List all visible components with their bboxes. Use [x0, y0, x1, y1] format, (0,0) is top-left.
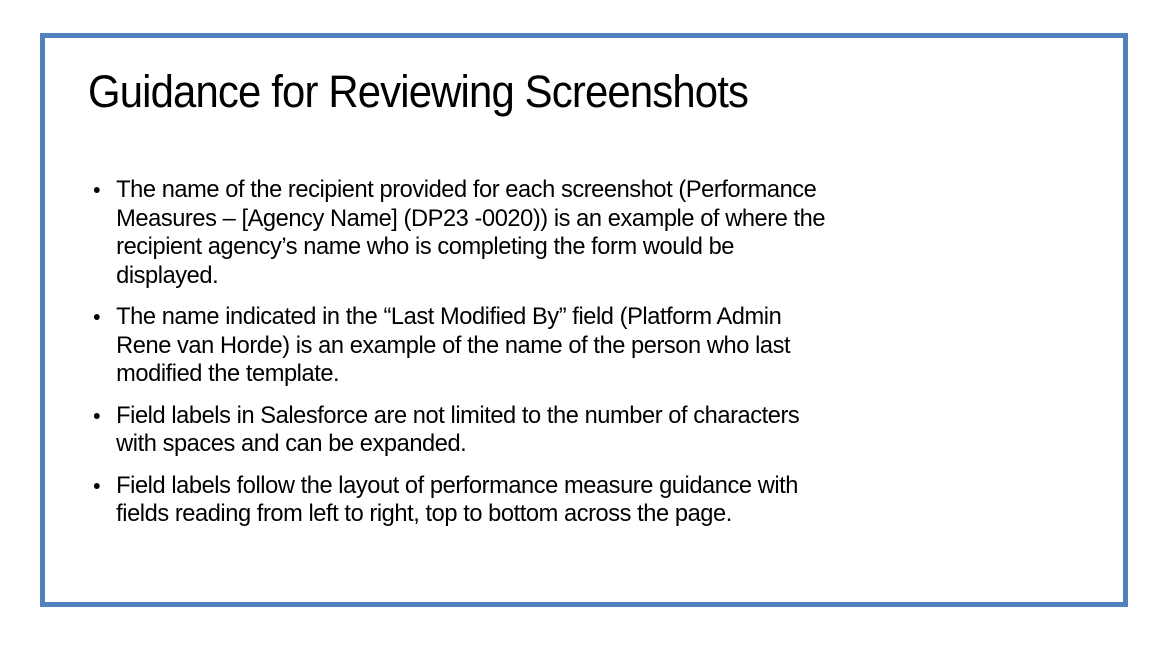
list-item: Field labels in Salesforce are not limit…: [92, 402, 1057, 459]
list-item: Field labels follow the layout of perfor…: [92, 472, 1057, 529]
round-bullet-icon: [94, 413, 100, 419]
guidance-bullet-list: The name of the recipient provided for e…: [92, 176, 1092, 529]
list-item-text: Field labels in Salesforce are not limit…: [116, 402, 1057, 459]
slide-canvas: Guidance for Reviewing Screenshots The n…: [0, 0, 1173, 660]
round-bullet-icon: [94, 187, 100, 193]
list-item: The name of the recipient provided for e…: [92, 176, 1057, 290]
round-bullet-icon: [94, 314, 100, 320]
page-title: Guidance for Reviewing Screenshots: [88, 66, 1009, 118]
round-bullet-icon: [94, 483, 100, 489]
list-item-text: The name of the recipient provided for e…: [116, 176, 1057, 290]
list-item-text: Field labels follow the layout of perfor…: [116, 472, 1057, 529]
frame-inner: Guidance for Reviewing Screenshots The n…: [45, 38, 1123, 602]
list-item-text: The name indicated in the “Last Modified…: [116, 303, 1057, 389]
list-item: The name indicated in the “Last Modified…: [92, 303, 1057, 389]
slide-content-frame: Guidance for Reviewing Screenshots The n…: [40, 33, 1128, 607]
